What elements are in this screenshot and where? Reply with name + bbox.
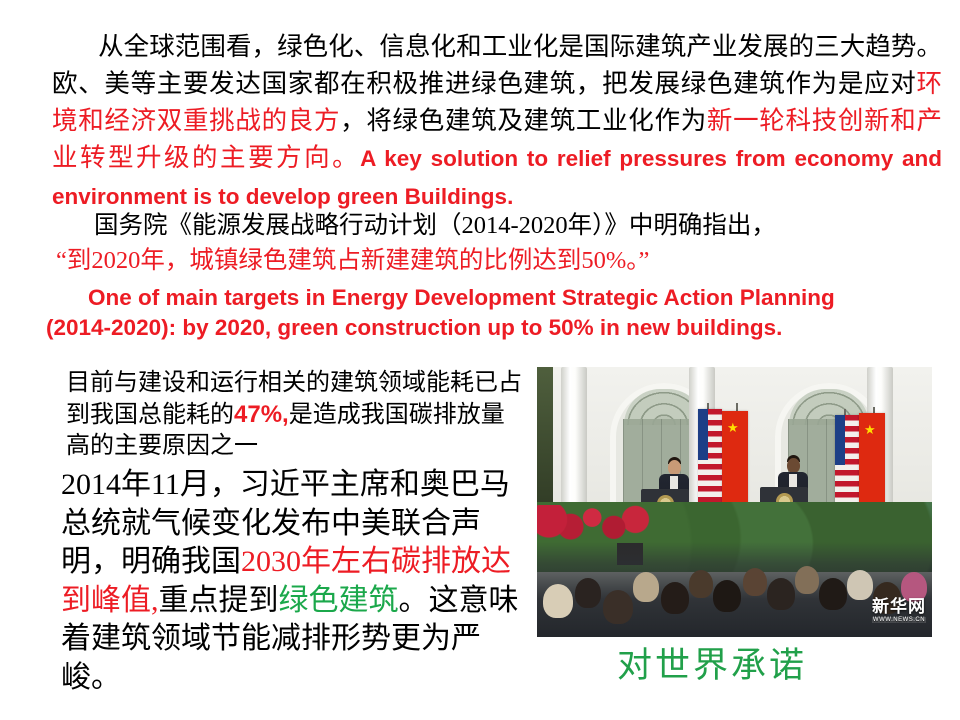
para-two-en-line-2: (2014-2020): by 2020, green construction… bbox=[46, 313, 941, 343]
slide-canvas: 从全球范围看，绿色化、信息化和工业化是国际建筑产业发展的三大趋势。欧、美等主要发… bbox=[0, 0, 960, 720]
para-two-text-black: 国务院《能源发展战略行动计划（2014-2020年）》中明确指出， bbox=[94, 212, 776, 239]
photo-watermark: 新华网 WWW.NEWS.CN bbox=[872, 599, 926, 623]
para-two-line-2-quote: “到2020年，城镇绿色建筑占新建建筑的比例达到50%。” bbox=[56, 243, 942, 278]
para-one-segment-black-1: 从全球范围看，绿色化、信息化和工业化是国际建筑产业发展的三大趋势。欧、美等主要发… bbox=[52, 32, 942, 98]
photo-audience-head bbox=[819, 578, 847, 610]
lower-large-green-greenbuilding: 绿色建筑 bbox=[279, 584, 399, 617]
photo-audience-head bbox=[795, 566, 819, 594]
paragraph-energy-share: 目前与建设和运行相关的建筑领域能耗已占到我国总能耗的47%,是造成我国碳排放量高… bbox=[66, 368, 526, 462]
photo-rose-bed bbox=[537, 505, 657, 541]
photo-column-1 bbox=[561, 367, 587, 519]
press-conference-photo: 新华网 WWW.NEWS.CN bbox=[537, 367, 932, 637]
photo-audience-head bbox=[713, 580, 741, 612]
paragraph-state-council-english: One of main targets in Energy Developmen… bbox=[46, 283, 941, 343]
photo-audience-head bbox=[689, 570, 713, 598]
para-two-line-1: 国务院《能源发展战略行动计划（2014-2020年）》中明确指出， bbox=[52, 208, 942, 243]
photo-audience-head bbox=[661, 582, 689, 614]
photo-speaker-right-head bbox=[787, 458, 800, 473]
para-two-en-line-1: One of main targets in Energy Developmen… bbox=[46, 283, 941, 313]
watermark-url-text: WWW.NEWS.CN bbox=[872, 617, 926, 623]
photo-audience-head bbox=[633, 572, 659, 602]
para-two-en-text-1: One of main targets in Energy Developmen… bbox=[88, 285, 835, 310]
photo-audience-head bbox=[575, 578, 601, 608]
lower-small-percent-highlight: 47%, bbox=[234, 401, 289, 428]
para-one-segment-black-2: ，将绿色建筑及建筑工业化作为 bbox=[340, 106, 707, 135]
photo-audience-head bbox=[543, 584, 573, 618]
watermark-logo-text: 新华网 bbox=[872, 599, 926, 617]
paragraph-joint-statement: 2014年11月，习近平主席和奥巴马总统就气候变化发布中美联合声明，明确我国20… bbox=[61, 466, 531, 697]
photo-audience-head bbox=[603, 590, 633, 624]
paragraph-state-council: 国务院《能源发展战略行动计划（2014-2020年）》中明确指出， “到2020… bbox=[52, 208, 942, 278]
paragraph-global-trends: 从全球范围看，绿色化、信息化和工业化是国际建筑产业发展的三大趋势。欧、美等主要发… bbox=[52, 28, 942, 215]
photo-speaker-left-head bbox=[668, 460, 681, 475]
green-caption-world-commitment: 对世界承诺 bbox=[617, 648, 807, 683]
photo-audience-head bbox=[767, 578, 795, 610]
photo-audience-head bbox=[743, 568, 767, 596]
lower-large-black-2: 重点提到 bbox=[159, 584, 279, 617]
photo-audience-head bbox=[847, 570, 873, 600]
